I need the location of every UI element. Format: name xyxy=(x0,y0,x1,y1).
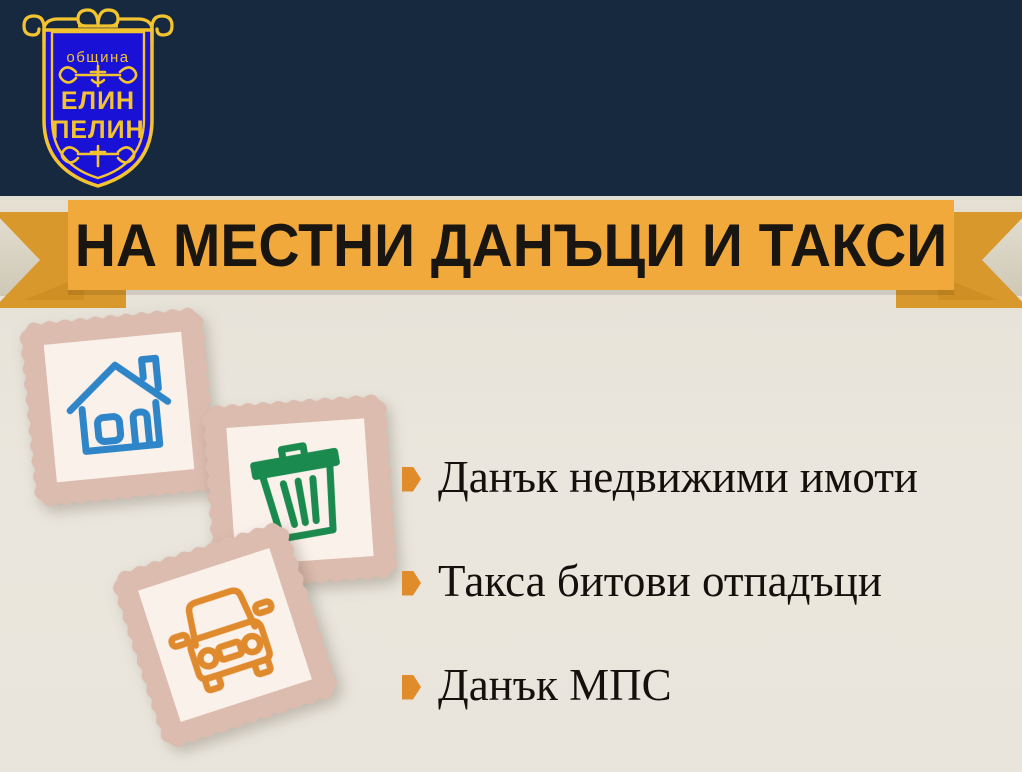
list-item-label: Такса битови отпадъци xyxy=(438,558,882,605)
list-item[interactable]: Такса битови отпадъци xyxy=(402,530,1018,634)
list-item-label: Данък недвижими имоти xyxy=(438,454,918,501)
logo-text-elin: ЕЛИН xyxy=(61,87,135,115)
stamp-house xyxy=(15,303,222,510)
coat-of-arms-logo: община ЕЛИН ПЕЛИН xyxy=(14,2,182,190)
ribbon-main-panel: НА МЕСТНИ ДАНЪЦИ И ТАКСИ xyxy=(68,200,954,290)
tax-type-list: Данък недвижими имоти Такса битови отпад… xyxy=(402,426,1018,738)
logo-text-obshtina: община xyxy=(66,49,129,66)
list-item[interactable]: Данък недвижими имоти xyxy=(402,426,1018,530)
logo-text-pelin: ПЕЛИН xyxy=(51,116,144,144)
ribbon-subtitle: НА МЕСТНИ ДАНЪЦИ И ТАКСИ xyxy=(90,200,932,290)
bullet-arrow-icon xyxy=(402,467,421,492)
poster-root: ПРОВЕРКА И ПЛАЩАНЕ НА ЗАДЪЛЖЕНИЯ xyxy=(0,0,1022,772)
bullet-arrow-icon xyxy=(402,571,421,596)
bullet-arrow-icon xyxy=(402,675,421,700)
list-item-label: Данък МПС xyxy=(438,662,672,709)
list-item[interactable]: Данък МПС xyxy=(402,634,1018,738)
ribbon-banner: НА МЕСТНИ ДАНЪЦИ И ТАКСИ xyxy=(0,196,1022,308)
